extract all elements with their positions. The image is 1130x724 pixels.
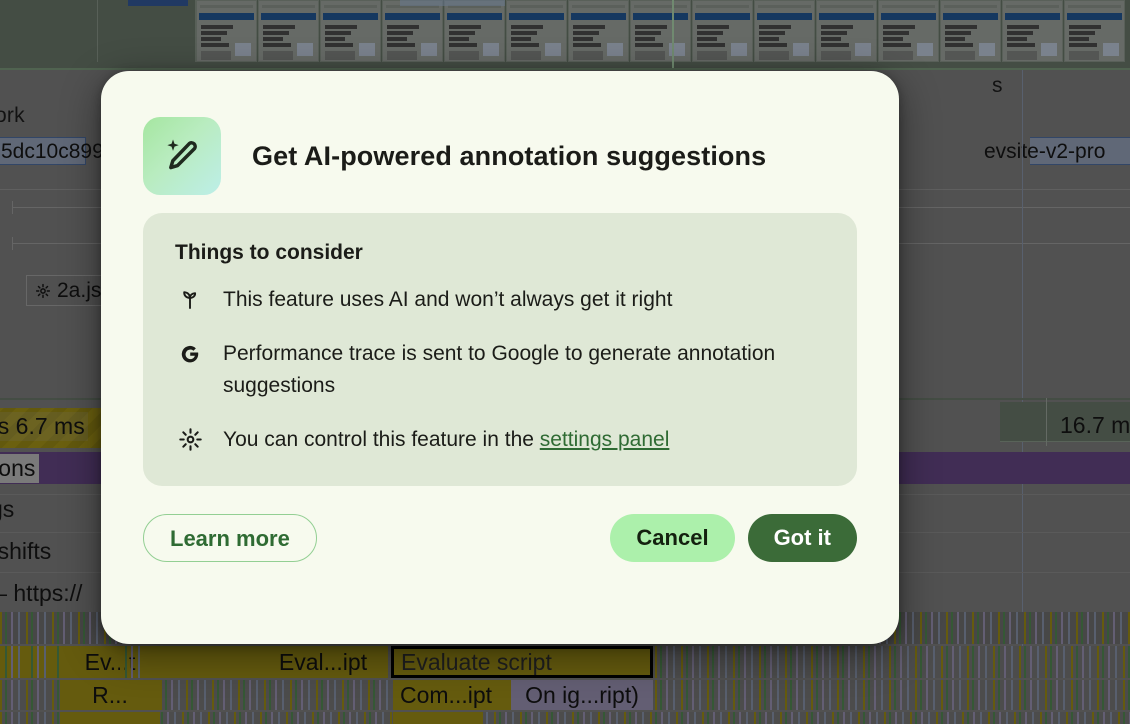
got-it-button[interactable]: Got it — [748, 514, 857, 562]
gear-icon — [175, 424, 205, 452]
ai-annotations-consent-dialog: Get AI-powered annotation suggestions Th… — [101, 71, 899, 644]
google-g-glyph — [177, 341, 203, 367]
google-g-icon — [175, 338, 205, 367]
magic-wand-pencil-glyph — [160, 134, 204, 178]
consider-text-before: You can control this feature in the — [223, 428, 540, 451]
consider-item-google-trace: Performance trace is sent to Google to g… — [175, 338, 825, 402]
consider-item-ai-accuracy: This feature uses AI and won’t always ge… — [175, 284, 825, 316]
consider-item-text: This feature uses AI and won’t always ge… — [223, 284, 672, 316]
magic-wand-pencil-icon — [143, 117, 221, 195]
sprout-icon — [175, 284, 205, 311]
sprout-glyph — [178, 287, 202, 311]
primary-actions-group: Cancel Got it — [610, 514, 857, 562]
dialog-actions: Learn more Cancel Got it — [143, 514, 857, 562]
learn-more-button[interactable]: Learn more — [143, 514, 317, 562]
settings-panel-link[interactable]: settings panel — [540, 428, 670, 451]
consider-item-text: Performance trace is sent to Google to g… — [223, 338, 825, 402]
cancel-button[interactable]: Cancel — [610, 514, 734, 562]
consider-item-text: You can control this feature in the sett… — [223, 424, 669, 456]
gear-glyph — [178, 427, 203, 452]
dialog-header: Get AI-powered annotation suggestions — [143, 101, 857, 211]
consider-item-settings-control: You can control this feature in the sett… — [175, 424, 825, 456]
panel-heading: Things to consider — [175, 241, 825, 265]
dialog-title: Get AI-powered annotation suggestions — [252, 141, 766, 172]
things-to-consider-panel: Things to consider This feature uses AI … — [143, 213, 857, 486]
